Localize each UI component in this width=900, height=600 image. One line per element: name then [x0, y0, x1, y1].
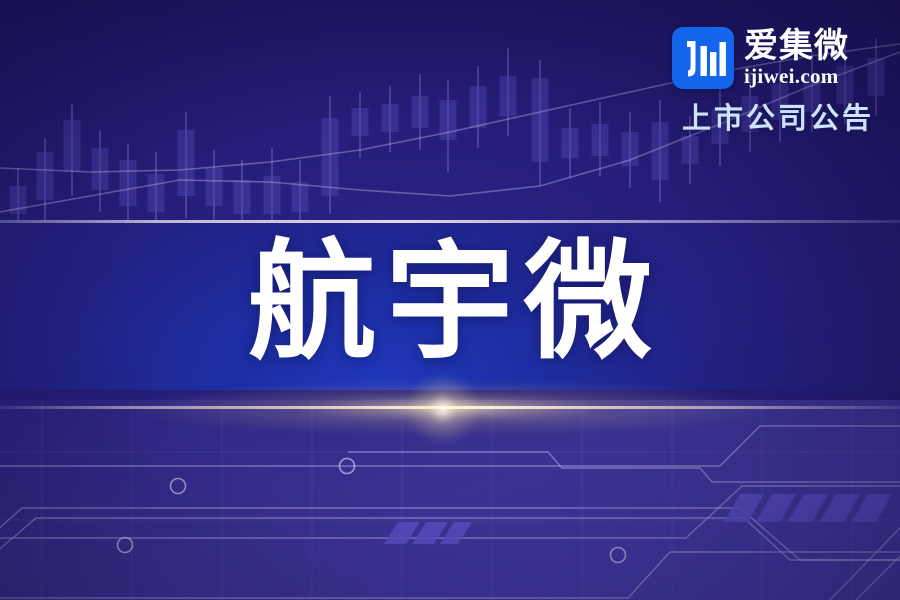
banner-subtitle: 上市公司公告: [672, 102, 884, 136]
lens-flare-core: [403, 372, 483, 446]
brand-domain: ijiwei.com: [744, 65, 884, 88]
brand-name-cn: 爱集微: [744, 28, 884, 64]
brand-logo-row: 爱集微 ijiwei.com: [672, 26, 884, 90]
divider-light-rule: [0, 220, 900, 223]
announcement-banner: 航宇微 爱集微 ijiwei.com 上市公司公告: [0, 0, 900, 600]
brand-block: 爱集微 ijiwei.com 上市公司公告: [672, 26, 884, 136]
brand-wordmark: 爱集微 ijiwei.com: [744, 28, 884, 88]
ijiwei-bars-logo-icon: [672, 27, 734, 89]
company-title: 航宇微: [0, 236, 900, 370]
